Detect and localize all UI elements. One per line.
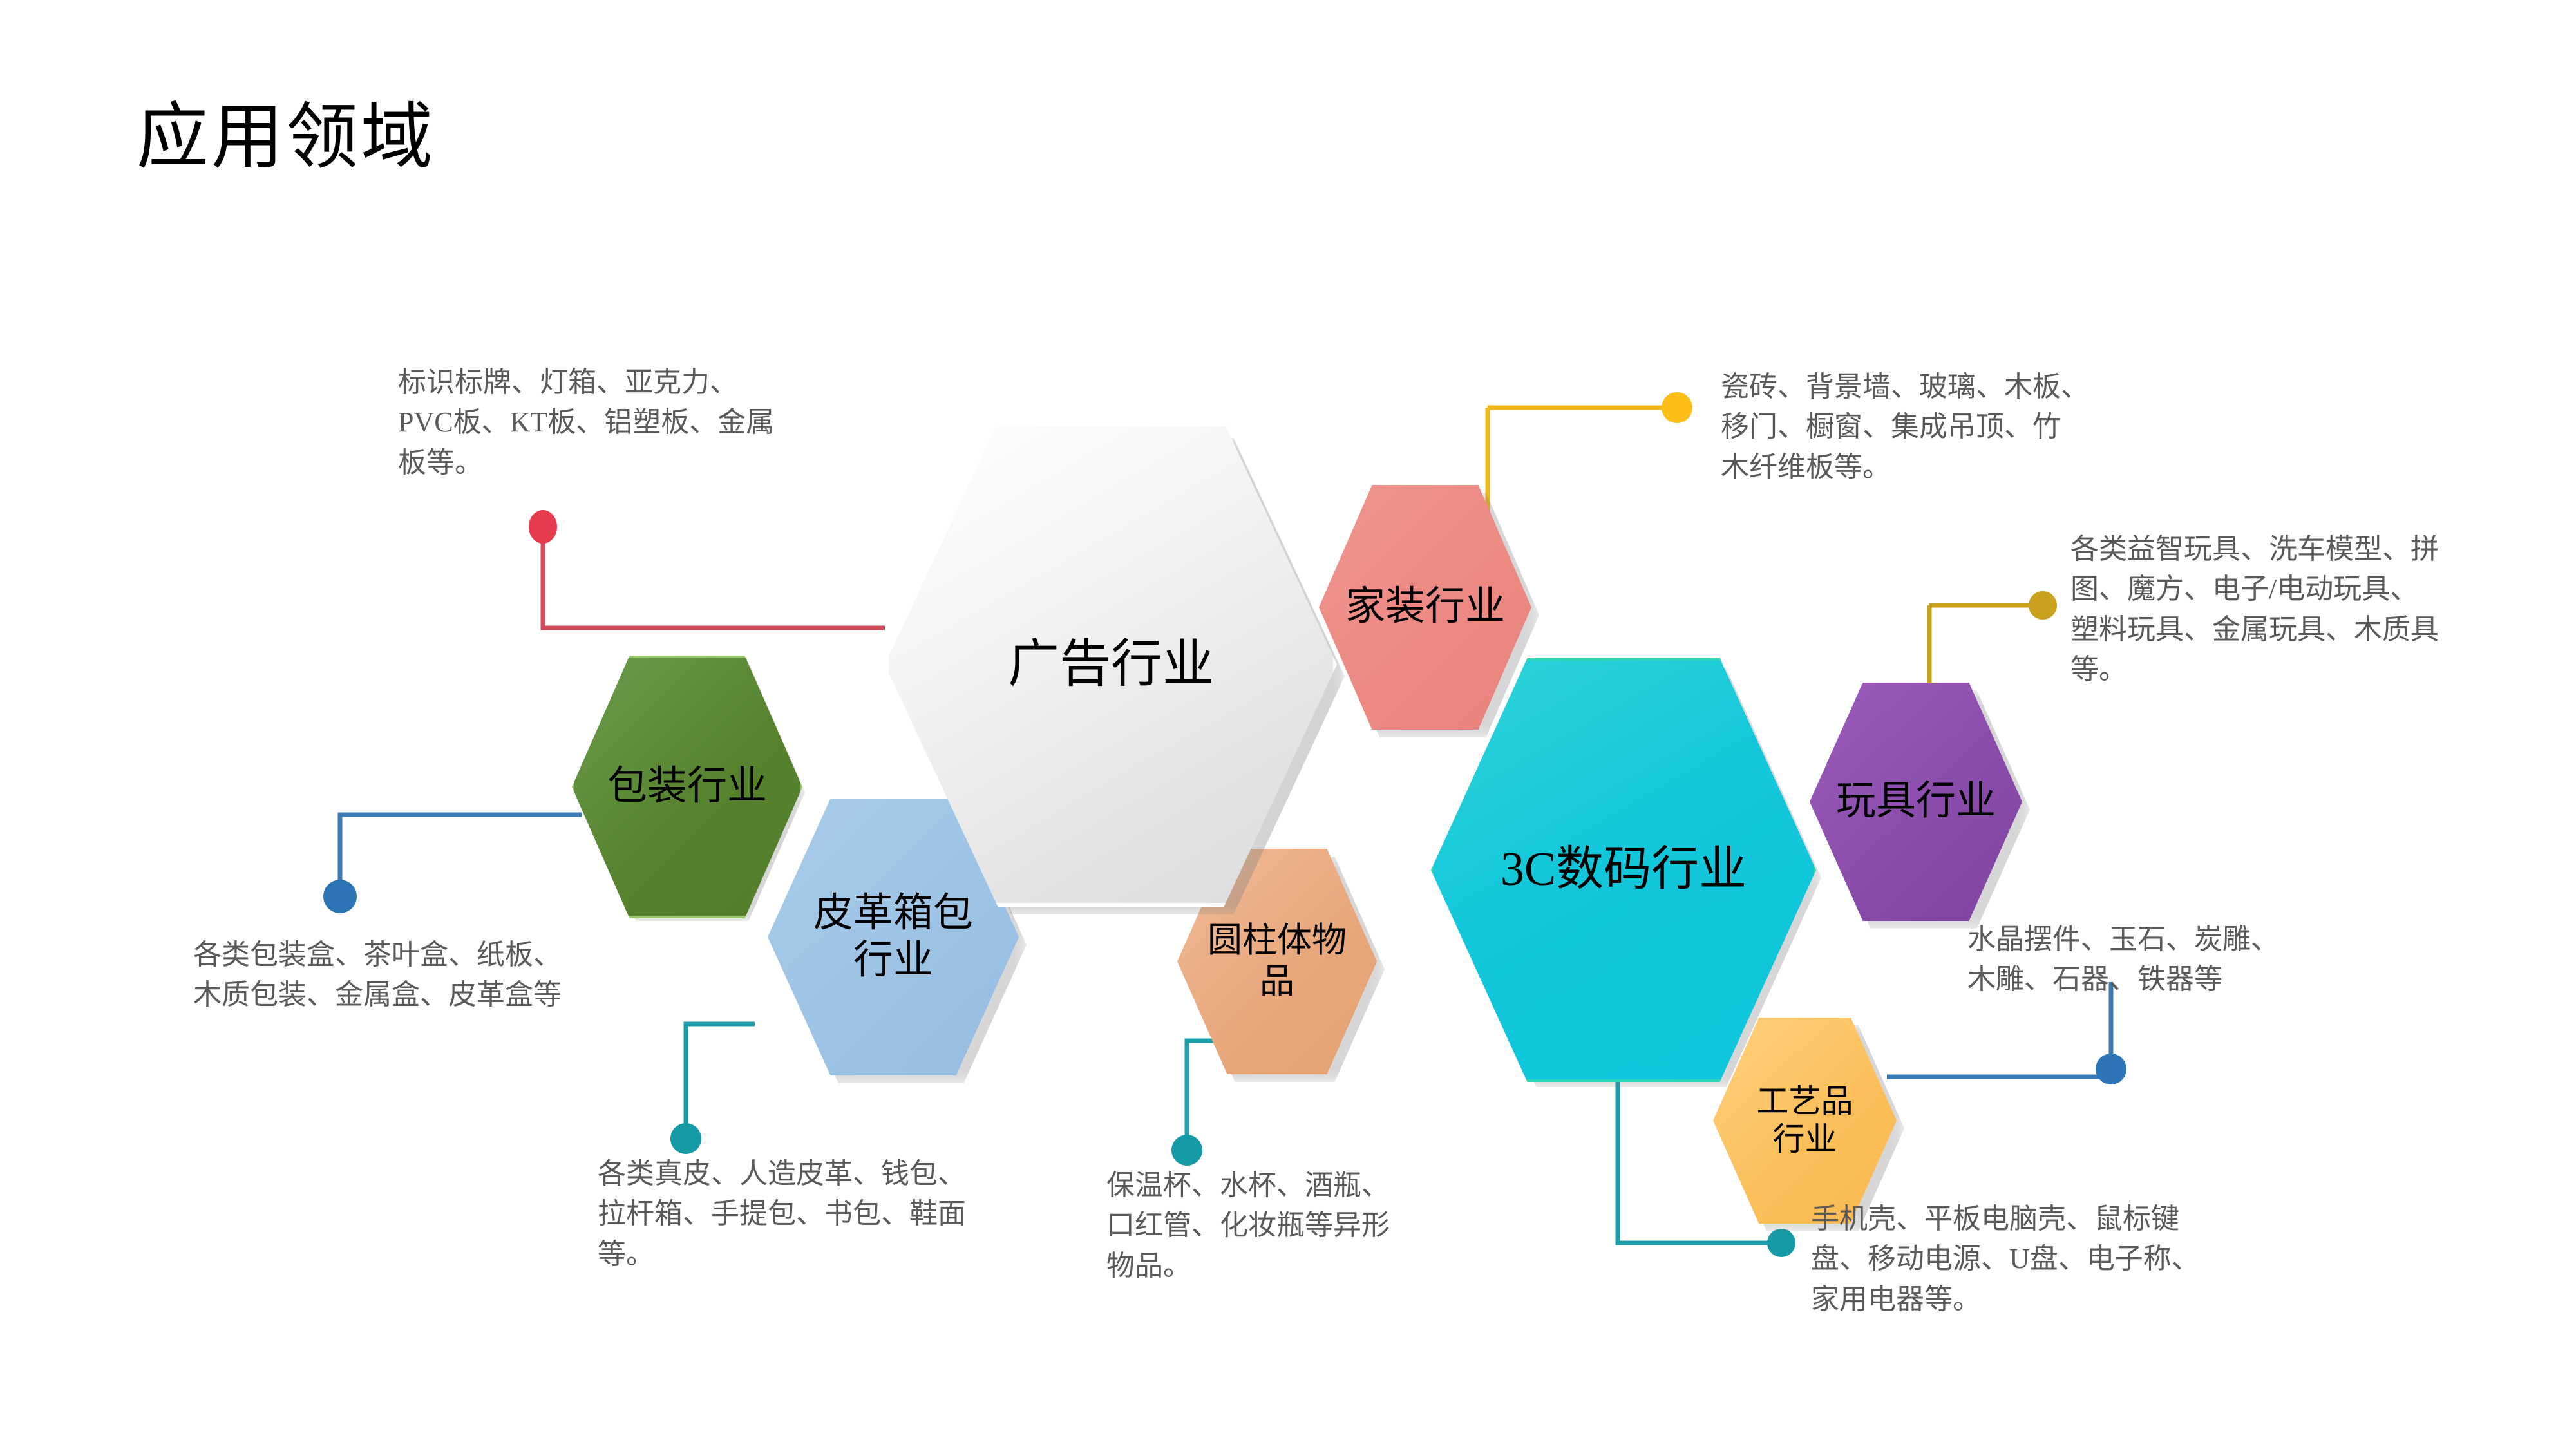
cylindrical-objects-note: 保温杯、水杯、酒瓶、 口红管、化妆瓶等异形 物品。	[1106, 1166, 1467, 1286]
hexagon-handicrafts-label: 工艺品 行业	[1742, 1083, 1868, 1159]
packaging-note: 各类包装盒、茶叶盒、纸板、 木质包装、金属盒、皮革盒等	[193, 935, 663, 1016]
hexagon-toys-label: 玩具行业	[1819, 778, 2013, 825]
hexagon-advertising-label: 广告行业	[972, 634, 1249, 695]
leather-luggage-note: 各类真皮、人造皮革、钱包、 拉杆箱、手提包、书包、鞋面 等。	[598, 1154, 1042, 1274]
home-decoration-note: 瓷砖、背景墙、玻璃、木板、 移门、橱窗、集成吊顶、竹 木纤维板等。	[1721, 367, 2159, 488]
hexagon-packaging-label: 包装行业	[589, 763, 785, 810]
packaging-connector	[323, 815, 582, 913]
hexagon-3c-digital-label: 3C数码行业	[1470, 842, 1777, 898]
home-decoration-connector	[1488, 392, 1692, 515]
slide-canvas: 应用领域	[0, 0, 2576, 1449]
hexagon-cylindrical-objects-label: 圆柱体物 品	[1191, 920, 1363, 1002]
hexagon-home-decoration-label: 家装行业	[1329, 583, 1522, 630]
toys-note: 各类益智玩具、洗车模型、拼 图、魔方、电子/电动玩具、 塑料玩具、金属玩具、木质…	[2070, 529, 2515, 690]
handicrafts-note: 水晶摆件、玉石、炭雕、 木雕、石器、铁器等	[1967, 920, 2367, 1000]
advertising-note: 标识标牌、灯箱、亚克力、 PVC板、KT板、铝塑板、金属 板等。	[398, 363, 836, 483]
advertising-connector	[529, 510, 885, 628]
hexagon-leather-luggage-label: 皮革箱包 行业	[793, 890, 993, 984]
3c-digital-note: 手机壳、平板电脑壳、鼠标键 盘、移动电源、U盘、电子称、 家用电器等。	[1811, 1199, 2275, 1320]
leather-luggage-connector	[670, 1024, 755, 1154]
